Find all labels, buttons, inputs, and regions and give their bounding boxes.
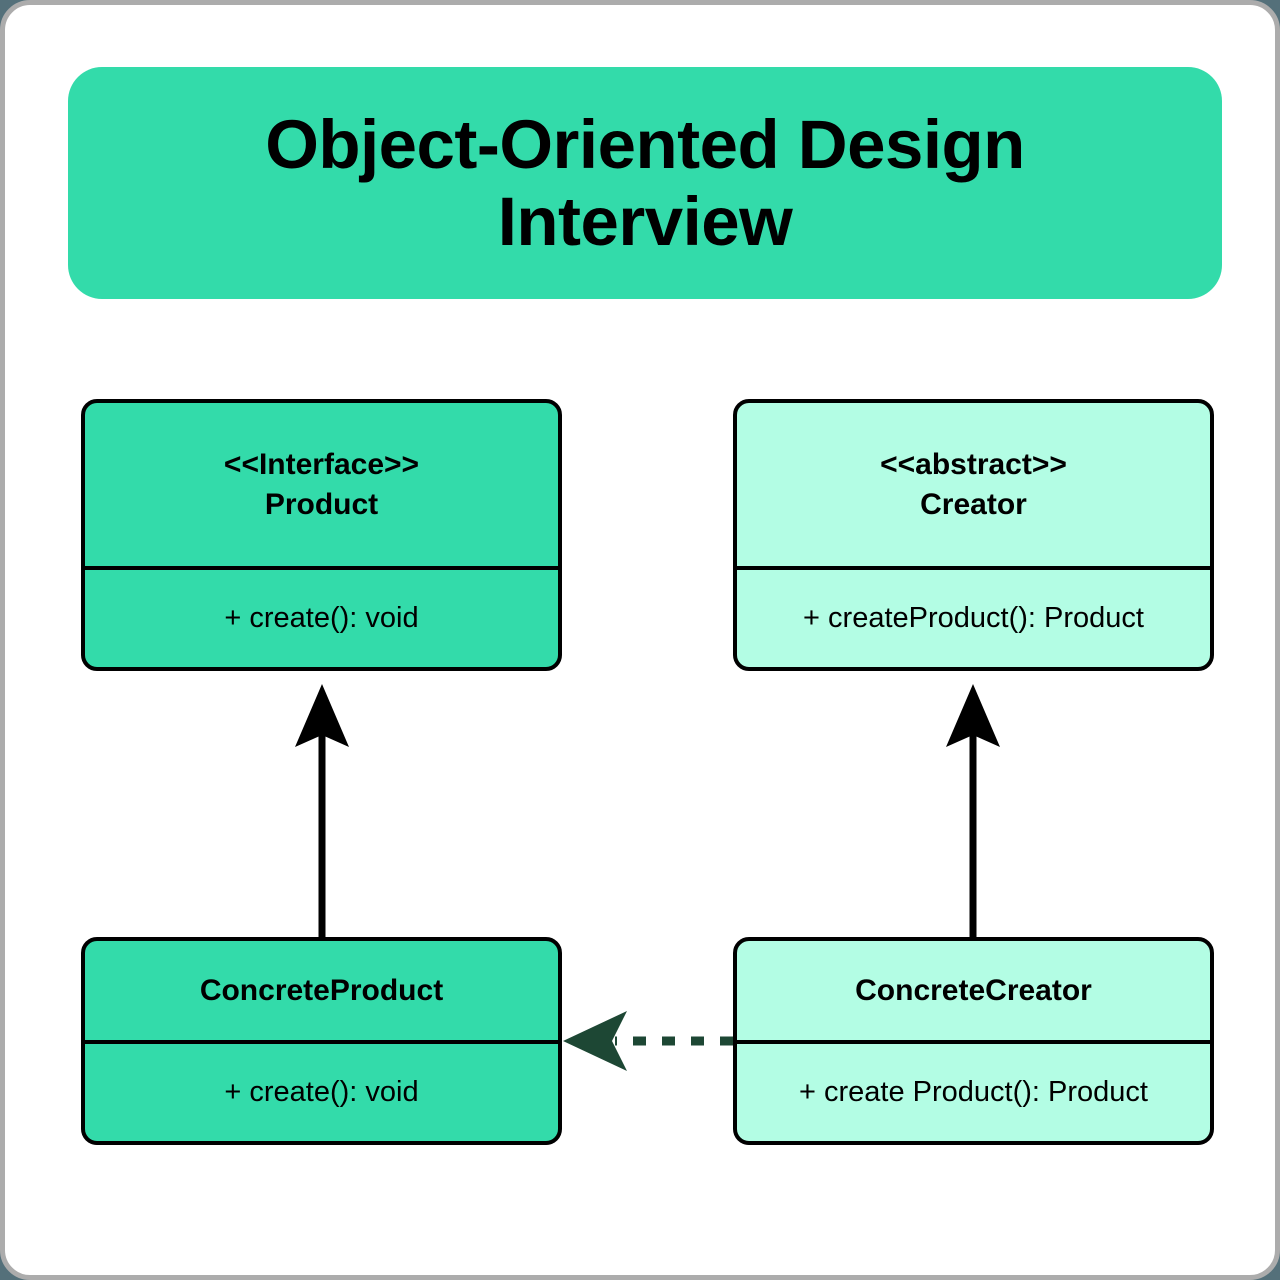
uml-class-concrete-product-header: ConcreteProduct <box>85 941 558 1040</box>
relationship-concrete-creator-to-creator <box>946 684 1000 937</box>
relationship-concrete-creator-to-concrete-product <box>563 1011 733 1071</box>
page-title-banner: Object-Oriented Design Interview <box>68 67 1222 299</box>
page-frame: Object-Oriented Design Interview <<Inter… <box>0 0 1280 1280</box>
uml-class-concrete-creator-header: ConcreteCreator <box>737 941 1210 1040</box>
uml-class-concrete-product: ConcreteProduct + create(): void <box>81 937 562 1145</box>
uml-class-creator-methods: + createProduct(): Product <box>737 570 1210 667</box>
uml-class-product-methods: + create(): void <box>85 570 558 667</box>
relationship-concrete-product-to-product <box>295 684 349 937</box>
uml-class-creator-header: <<abstract>> Creator <box>737 403 1210 566</box>
dependency-arrowhead <box>563 1011 627 1071</box>
uml-class-product-header: <<Interface>> Product <box>85 403 558 566</box>
uml-class-concrete-product-methods: + create(): void <box>85 1044 558 1141</box>
uml-class-creator: <<abstract>> Creator + createProduct(): … <box>733 399 1214 671</box>
generalization-arrowhead-product <box>295 684 349 747</box>
page-title: Object-Oriented Design Interview <box>235 106 1055 261</box>
generalization-arrowhead-creator <box>946 684 1000 747</box>
uml-class-product: <<Interface>> Product + create(): void <box>81 399 562 671</box>
uml-class-concrete-creator-methods: + create Product(): Product <box>737 1044 1210 1141</box>
uml-class-concrete-creator: ConcreteCreator + create Product(): Prod… <box>733 937 1214 1145</box>
